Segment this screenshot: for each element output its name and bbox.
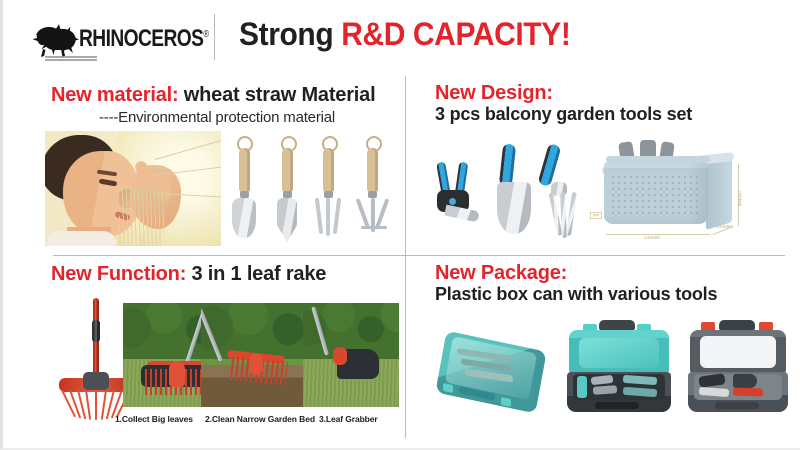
header-vertical-divider xyxy=(214,14,215,60)
basket-side-panel xyxy=(706,156,732,230)
tool-blade xyxy=(277,198,297,242)
trowel-grip xyxy=(499,143,516,186)
cultivator-prong xyxy=(375,198,390,229)
new-function-heading-red: New Function: xyxy=(51,263,186,285)
tool-ferrule xyxy=(283,191,292,198)
tool-ferrule xyxy=(240,191,249,198)
case-lid-inner xyxy=(579,338,659,368)
cultivator-bar xyxy=(361,226,387,229)
tool-handle xyxy=(323,148,334,192)
new-material-subtitle: ----Environmental protection material xyxy=(99,109,335,126)
header-bar: RHINOCEROS® Strong R&D CAPACITY! xyxy=(3,0,800,72)
new-design-heading-red: New Design: xyxy=(435,82,553,104)
tool-blade xyxy=(232,198,256,238)
case-tool-red-handle xyxy=(733,387,763,396)
cultivator-prong xyxy=(356,198,371,229)
pruner-blade xyxy=(444,205,480,223)
grabber-plate xyxy=(333,347,347,365)
dimension-label-height: 240MM xyxy=(738,191,743,207)
fork-tine xyxy=(333,198,341,234)
rake-hub xyxy=(83,372,109,390)
vertical-section-divider xyxy=(405,76,406,438)
brand-logo: RHINOCEROS® xyxy=(29,16,201,62)
tool-case-open-gray xyxy=(687,318,791,418)
rake-center-plate xyxy=(169,361,185,387)
new-function-heading: New Function: 3 in 1 leaf rake xyxy=(51,263,326,286)
logo-underline-rule xyxy=(45,56,97,61)
cultivator-prong xyxy=(566,192,577,236)
blue-tools-photo xyxy=(427,136,597,248)
horizontal-section-divider xyxy=(53,255,785,256)
tool-case-closed xyxy=(435,330,547,416)
tool-handle xyxy=(282,148,293,192)
cultivator-grip xyxy=(537,143,561,187)
function-caption-3: 3.Leaf Grabber xyxy=(319,414,378,424)
page-title-accent: R&D CAPACITY! xyxy=(341,17,570,53)
brand-wordmark: RHINOCEROS® xyxy=(79,25,208,53)
material-label: PP xyxy=(590,212,602,219)
slide-canvas: RHINOCEROS® Strong R&D CAPACITY! New mat… xyxy=(0,0,800,450)
function-photo-3 xyxy=(303,303,399,407)
case-base-grip xyxy=(595,402,639,409)
case-handle xyxy=(599,320,635,330)
wheat-photo xyxy=(45,131,221,246)
wooden-tools-photo xyxy=(221,131,397,246)
hand-transplanter-2 xyxy=(269,136,305,240)
tool-handle xyxy=(239,148,250,192)
blue-cultivator xyxy=(539,144,591,242)
fork-tine xyxy=(315,198,323,234)
case-tool-fork xyxy=(593,385,617,395)
case-tool-pruner xyxy=(577,376,587,398)
page-title: Strong R&D CAPACITY! xyxy=(239,17,570,54)
photo-wheat-bundle xyxy=(116,187,168,246)
rhino-silhouette-icon xyxy=(29,18,85,60)
function-caption-1: 1.Collect Big leaves xyxy=(115,414,193,424)
new-function-heading-black: 3 in 1 leaf rake xyxy=(186,263,326,285)
pruning-shears xyxy=(435,162,481,232)
hand-cultivator-4 xyxy=(355,136,391,240)
new-design-heading: New Design: xyxy=(435,82,553,105)
rake-tine xyxy=(95,390,97,420)
new-material-heading: New material: wheat straw Material xyxy=(51,84,375,107)
dimension-label-width: 240MM xyxy=(644,235,660,240)
hand-trowel-1 xyxy=(227,136,263,240)
hand-fork-3 xyxy=(311,136,347,240)
pruner-pivot xyxy=(449,198,456,205)
basket-lip xyxy=(606,156,710,163)
new-package-subheading: Plastic box can with various tools xyxy=(435,284,717,305)
tool-case-open-teal xyxy=(565,318,673,418)
photo-shirt xyxy=(47,231,117,246)
case-tool-trowel xyxy=(733,374,757,388)
case-handle xyxy=(719,320,755,330)
new-design-subheading: 3 pcs balcony garden tools set xyxy=(435,104,692,125)
trowel-blade xyxy=(497,182,531,234)
basket-mesh-pattern xyxy=(610,174,702,218)
registered-mark-icon: ® xyxy=(203,28,208,39)
tool-ferrule xyxy=(324,191,333,198)
rake-grip xyxy=(92,320,100,342)
new-material-heading-black: wheat straw Material xyxy=(178,84,375,106)
photo-wheat-stalk xyxy=(155,140,221,160)
function-caption-2: 2.Clean Narrow Garden Bed xyxy=(205,414,315,424)
rake-tine xyxy=(85,390,91,420)
case-lid-inner xyxy=(700,336,776,368)
storage-basket-photo: 240MM 240MM 100MM PP xyxy=(588,140,793,252)
rake-center-plate xyxy=(249,353,263,375)
case-base-grip xyxy=(715,402,759,409)
new-package-heading: New Package: xyxy=(435,262,567,285)
blue-trowel xyxy=(491,144,537,242)
fork-tine xyxy=(326,198,330,236)
tool-handle xyxy=(367,148,378,192)
dimension-label-depth: 100MM xyxy=(716,224,732,229)
new-material-heading-red: New material: xyxy=(51,84,178,106)
tool-ferrule xyxy=(368,191,377,198)
new-package-heading-red: New Package: xyxy=(435,262,567,284)
